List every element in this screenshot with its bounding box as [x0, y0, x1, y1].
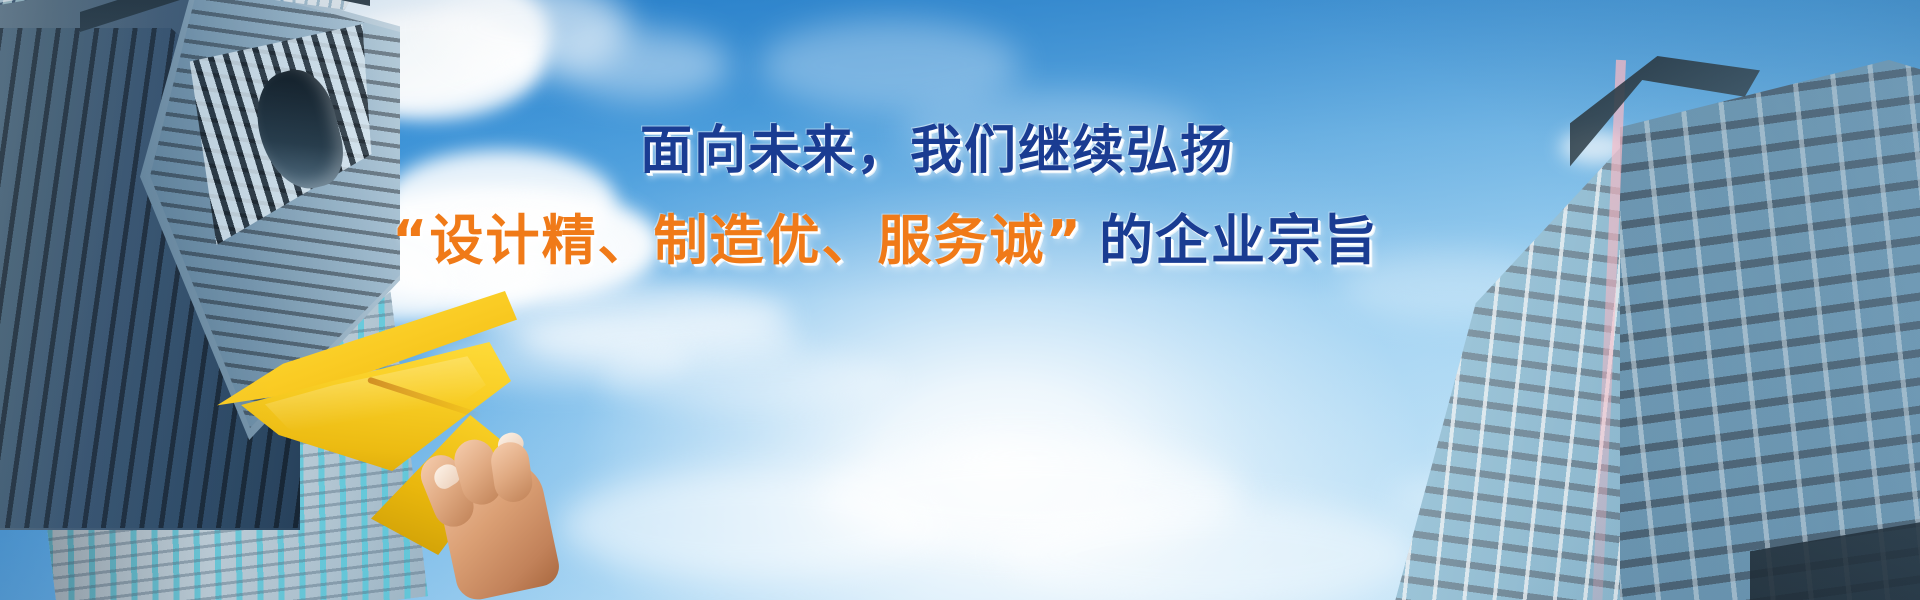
corporate-hero-banner: 面向未来，我们继续弘扬 “设计精、制造优、服务诚”的企业宗旨 — [0, 0, 1920, 600]
tower-windows-wide — [1620, 60, 1920, 600]
yellow-paper-airplane — [205, 265, 525, 555]
glass-skyscraper-right — [1320, 60, 1920, 600]
